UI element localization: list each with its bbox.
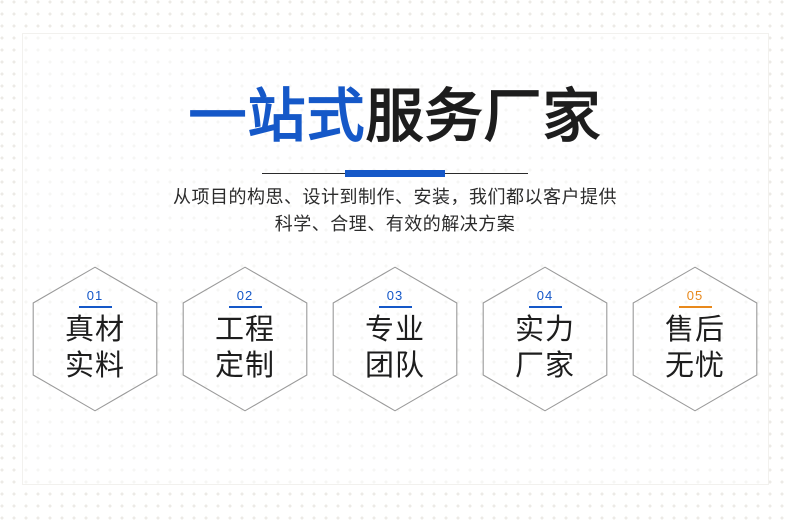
- feature-number: 02: [237, 289, 253, 303]
- promo-banner: 一站式服务厂家 从项目的构思、设计到制作、安装，我们都以客户提供 科学、合理、有…: [0, 0, 790, 521]
- title-divider: [262, 170, 528, 178]
- feature-label: 真材实料: [65, 312, 125, 384]
- feature-hexagon-03[interactable]: 03专业团队: [332, 266, 458, 412]
- page-subtitle: 从项目的构思、设计到制作、安装，我们都以客户提供 科学、合理、有效的解决方案: [0, 184, 790, 238]
- feature-label-line-1: 工程: [215, 312, 275, 348]
- feature-label-line-2: 实料: [65, 348, 125, 384]
- feature-hexagon-04[interactable]: 04实力厂家: [482, 266, 608, 412]
- feature-label-line-2: 定制: [215, 348, 275, 384]
- feature-label-line-2: 团队: [365, 348, 425, 384]
- feature-hexagon-content: 01真材实料: [32, 266, 158, 412]
- feature-label-line-1: 真材: [65, 312, 125, 348]
- feature-number: 03: [387, 289, 403, 303]
- subtitle-line-1: 从项目的构思、设计到制作、安装，我们都以客户提供: [0, 184, 790, 211]
- feature-hexagon-02[interactable]: 02工程定制: [182, 266, 308, 412]
- feature-label: 实力厂家: [515, 312, 575, 384]
- feature-number: 01: [87, 289, 103, 303]
- subtitle-line-2: 科学、合理、有效的解决方案: [0, 211, 790, 238]
- feature-hexagon-content: 05售后无忧: [632, 266, 758, 412]
- feature-hexagon-05[interactable]: 05售后无忧: [632, 266, 758, 412]
- feature-hexagon-01[interactable]: 01真材实料: [32, 266, 158, 412]
- feature-number-underline: [679, 306, 712, 308]
- feature-number: 04: [537, 289, 553, 303]
- headline-highlight: 一站式: [188, 84, 365, 149]
- feature-label-line-1: 售后: [665, 312, 725, 348]
- feature-label-line-2: 厂家: [515, 348, 575, 384]
- feature-label-line-2: 无忧: [665, 348, 725, 384]
- divider-accent-bar: [345, 170, 445, 177]
- feature-hexagon-content: 02工程定制: [182, 266, 308, 412]
- feature-label: 售后无忧: [665, 312, 725, 384]
- feature-hexagon-content: 04实力厂家: [482, 266, 608, 412]
- feature-number-underline: [79, 306, 112, 308]
- feature-hexagon-row: 01真材实料02工程定制03专业团队04实力厂家05售后无忧: [0, 266, 790, 416]
- feature-number-underline: [379, 306, 412, 308]
- feature-label-line-1: 专业: [365, 312, 425, 348]
- feature-label-line-1: 实力: [515, 312, 575, 348]
- feature-label: 专业团队: [365, 312, 425, 384]
- feature-hexagon-content: 03专业团队: [332, 266, 458, 412]
- feature-number-underline: [229, 306, 262, 308]
- feature-number-underline: [529, 306, 562, 308]
- feature-label: 工程定制: [215, 312, 275, 384]
- page-title: 一站式服务厂家: [0, 88, 790, 146]
- headline-rest: 服务厂家: [366, 84, 602, 149]
- feature-number: 05: [687, 289, 703, 303]
